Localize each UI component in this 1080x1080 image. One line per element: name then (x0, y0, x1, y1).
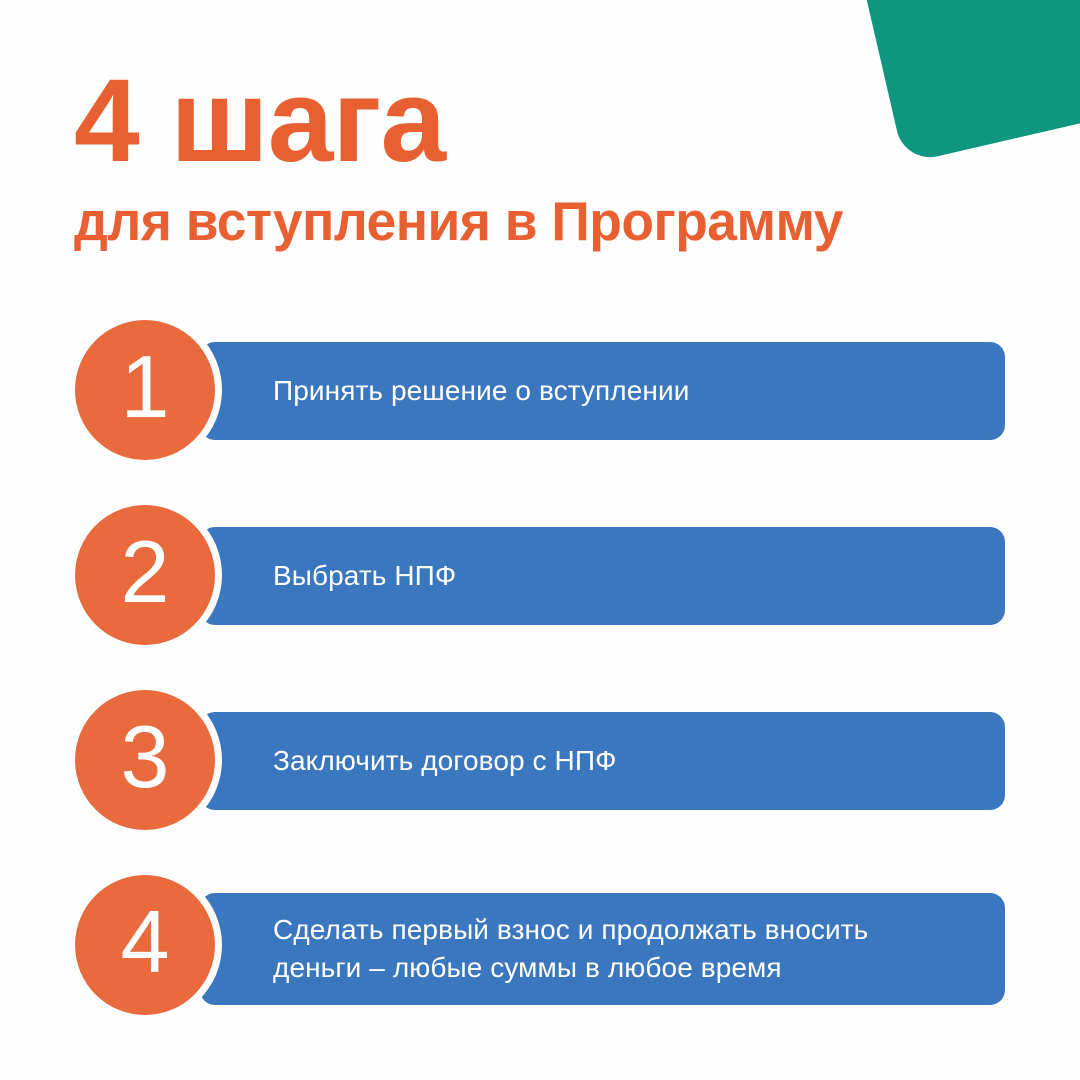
step-row: Выбрать НПФ 2 (0, 505, 1080, 645)
step-row: Сделать первый взнос и продолжать вносит… (0, 875, 1080, 1015)
step-bar-2: Выбрать НПФ (200, 527, 1005, 625)
step-label-2-line1: Выбрать НПФ (273, 560, 456, 591)
step-label-3: Заключить договор с НПФ (273, 742, 646, 780)
step-badge-2: 2 (75, 505, 215, 645)
step-number-4: 4 (121, 898, 170, 986)
step-bar-3: Заключить договор с НПФ (200, 712, 1005, 810)
step-label-3-line1: Заключить договор с НПФ (273, 745, 616, 776)
step-bar-4: Сделать первый взнос и продолжать вносит… (200, 893, 1005, 1005)
step-label-1-line1: Принять решение о вступлении (273, 375, 689, 406)
headline-main-text: 4 шага (74, 62, 1034, 180)
step-label-4-line1: Сделать первый взнос и продолжать вносит… (273, 914, 868, 945)
step-number-2: 2 (121, 528, 170, 616)
step-label-2: Выбрать НПФ (273, 557, 486, 595)
page-title: 4 шага для вступления в Программу (74, 62, 1034, 251)
infographic-poster: 4 шага для вступления в Программу Принят… (0, 0, 1080, 1080)
step-bar-1: Принять решение о вступлении (200, 342, 1005, 440)
step-label-4-line2: деньги – любые суммы в любое время (273, 949, 868, 987)
step-row: Заключить договор с НПФ 3 (0, 690, 1080, 830)
step-label-4: Сделать первый взнос и продолжать вносит… (273, 911, 898, 987)
step-row: Принять решение о вступлении 1 (0, 320, 1080, 460)
step-badge-4: 4 (75, 875, 215, 1015)
step-badge-3: 3 (75, 690, 215, 830)
step-badge-1: 1 (75, 320, 215, 460)
steps-list: Принять решение о вступлении 1 Выбрать Н… (0, 320, 1080, 1015)
step-label-1: Принять решение о вступлении (273, 372, 719, 410)
step-number-1: 1 (121, 343, 170, 431)
headline-subtitle-text: для вступления в Программу (74, 192, 1005, 251)
step-number-3: 3 (121, 713, 170, 801)
